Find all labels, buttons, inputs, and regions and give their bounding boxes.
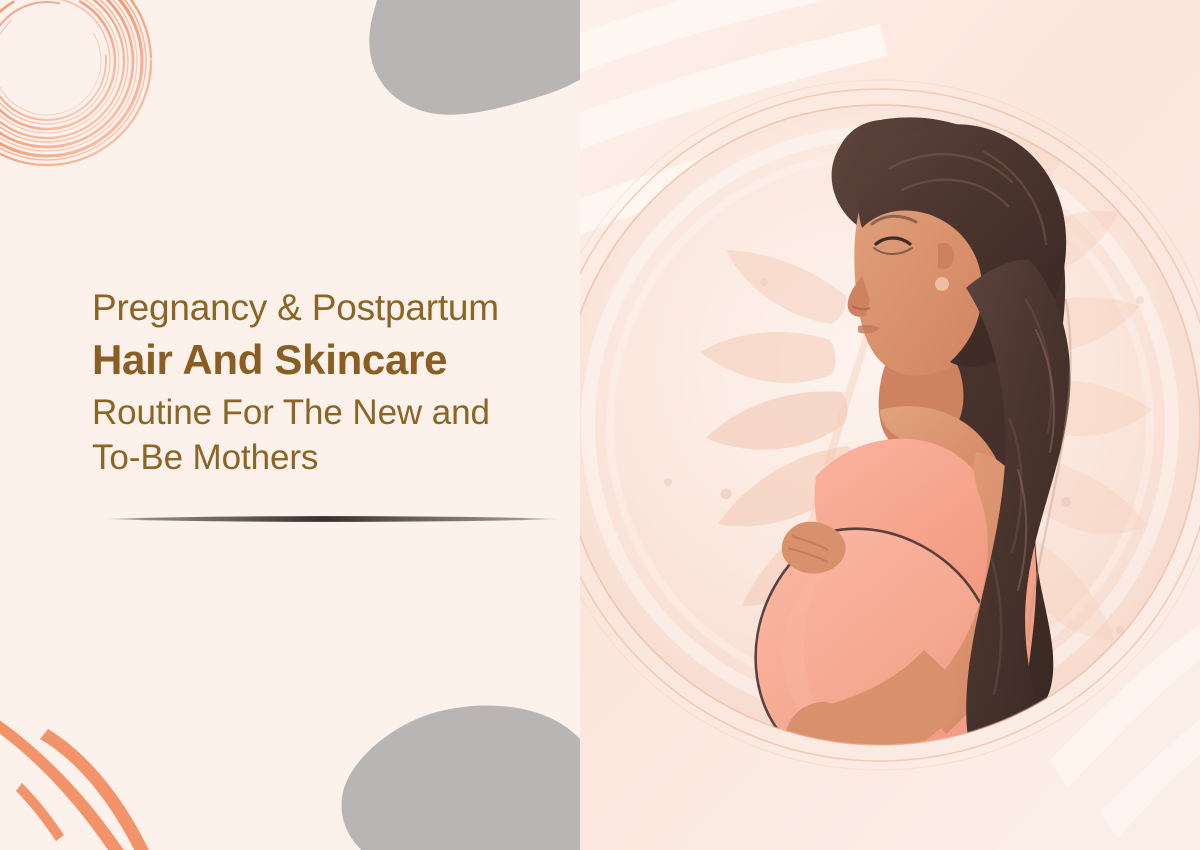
- woman-earring: [935, 277, 949, 291]
- divider: [100, 512, 565, 526]
- pregnant-woman-illustration: [580, 0, 1200, 850]
- brush-arc-decoration: [0, 0, 172, 186]
- headline-line-3b: To-Be Mothers: [92, 435, 612, 481]
- headline-line-1: Pregnancy & Postpartum: [92, 287, 612, 330]
- headline-block: Pregnancy & Postpartum Hair And Skincare…: [92, 287, 612, 481]
- curved-strokes-decoration: [0, 695, 240, 850]
- headline-line-2: Hair And Skincare: [92, 330, 612, 390]
- poster-canvas: Pregnancy & Postpartum Hair And Skincare…: [0, 0, 1200, 850]
- headline-line-3a: Routine For The New and: [92, 390, 612, 436]
